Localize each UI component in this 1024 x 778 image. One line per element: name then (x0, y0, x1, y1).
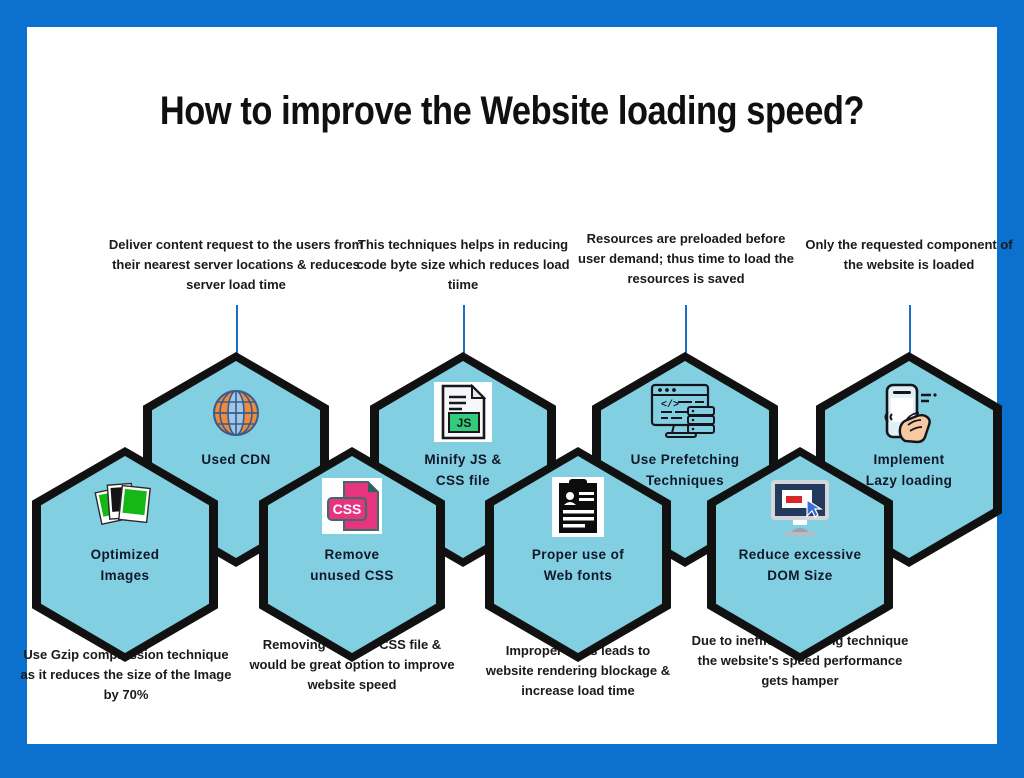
node-label-line1: Proper use of (532, 545, 624, 566)
monitor-cursor-icon (769, 477, 831, 539)
node-web-fonts[interactable]: Proper use of Web fonts (485, 447, 671, 662)
node-label: Optimized Images (91, 545, 160, 587)
monitor-code-icon: </> (654, 382, 716, 444)
svg-text:</>: </> (661, 399, 679, 411)
node-label-line2: Images (91, 566, 160, 587)
document-person-icon (547, 477, 609, 539)
svg-text:CSS: CSS (333, 501, 362, 517)
node-label: Remove unused CSS (310, 545, 394, 587)
js-file-icon: JS (432, 382, 494, 444)
caption-used-cdn: Deliver content request to the users fro… (106, 235, 366, 294)
caption-prefetching: Resources are preloaded before user dema… (572, 229, 800, 288)
svg-text:JS: JS (457, 416, 472, 430)
globe-icon (205, 382, 267, 444)
css-file-icon: CSS (321, 477, 383, 539)
node-label-line1: Reduce excessive (739, 545, 862, 566)
node-label-line2: DOM Size (739, 566, 862, 587)
caption-minify-js-css: This techniques helps in reducing code b… (353, 235, 573, 294)
page-title: How to improve the Website loading speed… (95, 89, 929, 134)
photo-stack-icon (94, 477, 156, 539)
node-label-line1: Remove (310, 545, 394, 566)
node-optimized-images[interactable]: Optimized Images (32, 447, 218, 662)
infographic-border: How to improve the Website loading speed… (0, 0, 1024, 778)
node-label-line2: unused CSS (310, 566, 394, 587)
node-dom-size[interactable]: Reduce excessive DOM Size (707, 447, 893, 662)
node-label-line1: Optimized (91, 545, 160, 566)
caption-lazy-loading: Only the requested component of the webs… (802, 235, 1016, 275)
phone-tap-icon (878, 382, 940, 444)
infographic-canvas: How to improve the Website loading speed… (27, 27, 997, 744)
node-label: Reduce excessive DOM Size (739, 545, 862, 587)
node-label: Proper use of Web fonts (532, 545, 624, 587)
node-remove-unused-css[interactable]: CSS Remove unused CSS (259, 447, 445, 662)
node-label-line2: Web fonts (532, 566, 624, 587)
